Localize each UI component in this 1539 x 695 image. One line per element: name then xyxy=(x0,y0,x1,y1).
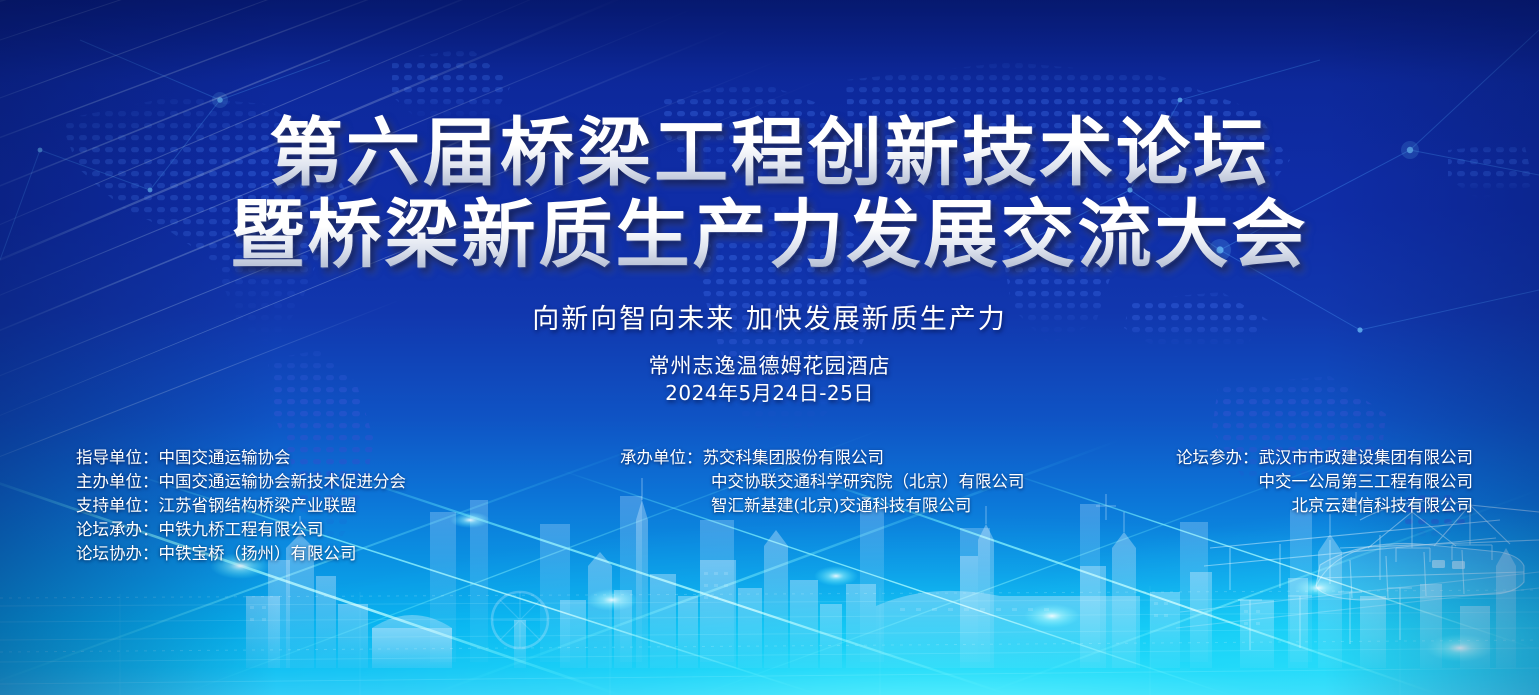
venue-info: 常州志逸温德姆花园酒店 2024年5月24日-25日 xyxy=(0,353,1539,407)
organizers-right-column: 论坛参办：武汉市市政建设集团有限公司 中交一公局第三工程有限公司 北京云建信科技… xyxy=(1176,446,1473,518)
org-label: 主办单位： xyxy=(76,470,159,494)
org-value: 江苏省钢结构桥梁产业联盟 xyxy=(159,496,357,515)
title-line-2: 暨桥梁新质生产力发展交流大会 xyxy=(0,194,1539,276)
org-label: 论坛参办： xyxy=(1176,446,1259,470)
venue-date: 2024年5月24日-25日 xyxy=(0,380,1539,407)
org-row: 论坛参办：武汉市市政建设集团有限公司 xyxy=(1176,446,1473,470)
org-value: 北京云建信科技有限公司 xyxy=(1292,496,1474,515)
org-row: 指导单位：中国交通运输协会 xyxy=(76,446,406,470)
main-title: 第六届桥梁工程创新技术论坛 暨桥梁新质生产力发展交流大会 xyxy=(0,112,1539,276)
org-value: 中铁九桥工程有限公司 xyxy=(159,520,324,539)
org-value: 苏交科集团股份有限公司 xyxy=(703,448,885,467)
org-value: 智汇新基建(北京)交通科技有限公司 xyxy=(711,496,971,515)
org-value: 中交一公局第三工程有限公司 xyxy=(1259,472,1474,491)
title-line-1: 第六届桥梁工程创新技术论坛 xyxy=(0,112,1539,194)
org-row: 智汇新基建(北京)交通科技有限公司 xyxy=(620,494,1025,518)
org-row: 承办单位：苏交科集团股份有限公司 xyxy=(620,446,1025,470)
org-value: 武汉市市政建设集团有限公司 xyxy=(1259,448,1474,467)
org-row: 中交一公局第三工程有限公司 xyxy=(1176,470,1473,494)
org-label: 承办单位： xyxy=(620,446,703,470)
org-row: 支持单位：江苏省钢结构桥梁产业联盟 xyxy=(76,494,406,518)
banner-content: 第六届桥梁工程创新技术论坛 暨桥梁新质生产力发展交流大会 向新向智向未来 加快发… xyxy=(0,0,1539,695)
conference-banner: 第六届桥梁工程创新技术论坛 暨桥梁新质生产力发展交流大会 向新向智向未来 加快发… xyxy=(0,0,1539,695)
org-row: 主办单位：中国交通运输协会新技术促进分会 xyxy=(76,470,406,494)
org-label: 论坛协办： xyxy=(76,542,159,566)
organizers-left-column: 指导单位：中国交通运输协会 主办单位：中国交通运输协会新技术促进分会 支持单位：… xyxy=(76,446,406,566)
org-value: 中国交通运输协会新技术促进分会 xyxy=(159,472,407,491)
org-value: 中交协联交通科学研究院（北京）有限公司 xyxy=(711,472,1025,491)
org-value: 中铁宝桥（扬州）有限公司 xyxy=(159,544,357,563)
org-label: 论坛承办： xyxy=(76,518,159,542)
org-label: 支持单位： xyxy=(76,494,159,518)
org-row: 中交协联交通科学研究院（北京）有限公司 xyxy=(620,470,1025,494)
subtitle-slogan: 向新向智向未来 加快发展新质生产力 xyxy=(0,297,1539,336)
org-label: 指导单位： xyxy=(76,446,159,470)
org-row: 北京云建信科技有限公司 xyxy=(1176,494,1473,518)
org-row: 论坛承办：中铁九桥工程有限公司 xyxy=(76,518,406,542)
organizers-center-column: 承办单位：苏交科集团股份有限公司 中交协联交通科学研究院（北京）有限公司 智汇新… xyxy=(620,446,1025,518)
org-row: 论坛协办：中铁宝桥（扬州）有限公司 xyxy=(76,542,406,566)
venue-name: 常州志逸温德姆花园酒店 xyxy=(0,353,1539,380)
org-value: 中国交通运输协会 xyxy=(159,448,291,467)
